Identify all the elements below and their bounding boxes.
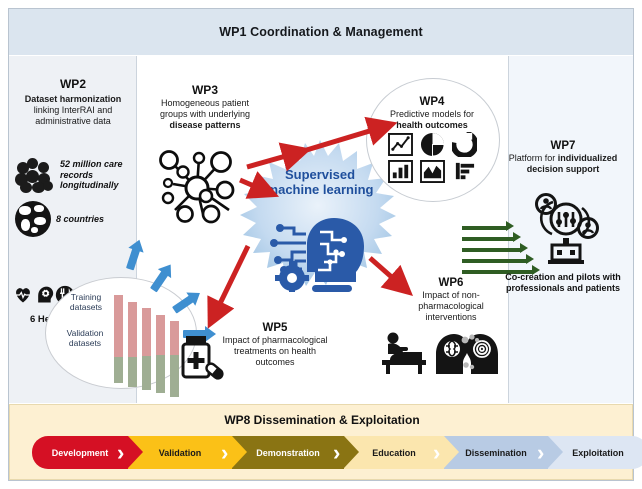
dataset-bar [128, 302, 137, 387]
chevron-tip [548, 436, 563, 468]
chevron-arrow-icon: › [221, 440, 228, 465]
chevron-arrow-icon: › [537, 440, 544, 465]
wp4-code: WP4 [372, 96, 492, 109]
wp5-line1: Impact of pharmacological [210, 335, 340, 346]
training-datasets-label: Training datasets [60, 292, 112, 312]
wp3-line2: groups with underlying [140, 109, 270, 120]
wp8-stage-label: Demonstration [252, 448, 324, 458]
brain-exchange-heads-icon [432, 330, 502, 374]
pill-bottle-icon [180, 334, 224, 380]
wp3-heading: WP3 Homogeneous patient groups with unde… [140, 84, 270, 131]
validation-datasets-label: Validation datasets [56, 328, 114, 348]
chevron-tip [444, 436, 459, 468]
chevron-arrow-icon: › [333, 440, 340, 465]
wp8-label: WP8 Dissemination & Exploitation [10, 413, 634, 427]
wp8-stage-development[interactable]: Development› [32, 436, 128, 469]
line-chart-icon [388, 133, 413, 156]
chevron-tip [344, 436, 359, 468]
wp6-line3: interventions [398, 312, 504, 323]
wp7-line1-bold: individualized [558, 153, 618, 163]
chevron-arrow-icon: › [433, 440, 440, 465]
dataset-bar [156, 315, 165, 393]
wp5-line3: outcomes [210, 357, 340, 368]
physiotherapy-massage-icon [378, 330, 430, 374]
wp8-process-chevrons: Development›Validation›Demonstration›Edu… [32, 436, 642, 469]
core-line1: Supervised [247, 168, 393, 183]
brain-head-icon [34, 285, 54, 305]
wp2-stat-records-label: 52 million care records longitudinally [60, 159, 135, 191]
dataset-bar [170, 321, 179, 397]
wp1-coordination-management-band: WP1 Coordination & Management [9, 9, 633, 55]
wp4-chart-icons [375, 132, 489, 186]
wp8-stage-label: Exploitation [568, 448, 628, 458]
wp8-stage-label: Development [48, 448, 113, 458]
wp8-stage-label: Education [368, 448, 420, 458]
dataset-bar [114, 295, 123, 383]
wp2-stat-countries: 8 countries [15, 201, 135, 237]
wp3-line3: disease patterns [140, 120, 270, 131]
core-line2: machine learning [247, 183, 393, 198]
wp5-code: WP5 [210, 322, 340, 335]
globe-icon [15, 201, 51, 237]
wp7-code: WP7 [505, 140, 621, 153]
area-chart-icon [420, 160, 445, 183]
wp2-stat-countries-label: 8 countries [56, 214, 104, 225]
wp8-stage-label: Validation [155, 448, 206, 458]
wp7-line1-prefix: Platform for [509, 153, 558, 163]
chevron-arrow-icon: › [117, 440, 124, 465]
horizontal-bar-chart-icon [452, 160, 477, 183]
wp7-line1: Platform for individualized [505, 153, 621, 164]
wp4-heading: WP4 Predictive models for health outcome… [372, 96, 492, 131]
supervised-ml-label: Supervised machine learning [247, 168, 393, 197]
wp2-code: WP2 [11, 78, 135, 92]
wp4-line1: Predictive models for [372, 109, 492, 120]
wp4-line2: health outcomes [372, 120, 492, 131]
wp5-heading: WP5 Impact of pharmacological treatments… [210, 322, 340, 368]
wp2-title: Dataset harmonization [11, 94, 135, 105]
chevron-tip [232, 436, 247, 468]
wp6-line2: pharmacological [398, 301, 504, 312]
chevron-tip [128, 436, 143, 468]
wp8-dissemination-band: WP8 Dissemination & Exploitation Develop… [9, 404, 633, 480]
donut-chart-icon [452, 132, 477, 157]
wp3-line1: Homogeneous patient [140, 98, 270, 109]
wp8-stage-demonstration[interactable]: Demonstration› [232, 436, 344, 469]
pie-chart-icon [420, 132, 445, 157]
wp7-heading: WP7 Platform for individualized decision… [505, 140, 621, 175]
ai-brain-circuit-head-icon [268, 212, 372, 292]
wp8-stage-dissemination[interactable]: Dissemination› [444, 436, 548, 469]
network-nodes-icon [155, 146, 247, 224]
wp1-label: WP1 Coordination & Management [219, 25, 423, 39]
wp7-footer-label: Co-creation and pilots with professional… [504, 272, 622, 295]
decision-support-platform-icon [530, 190, 602, 264]
dataset-bar [142, 308, 151, 390]
heart-ecg-icon [13, 285, 33, 305]
wp2-heading: WP2 Dataset harmonization linking InterR… [11, 78, 135, 127]
diagram-canvas: WP1 Coordination & Management WP2 Datase… [0, 0, 642, 489]
wp2-stat-records: 52 million care records longitudinally [15, 156, 135, 194]
wp8-stage-label: Dissemination [461, 448, 531, 458]
bar-chart-icon [388, 160, 413, 183]
wp2-subtitle: linking InterRAI and administrative data [11, 105, 135, 127]
wp7-line2: decision support [505, 164, 621, 175]
wp6-heading: WP6 Impact of non- pharmacological inter… [398, 277, 504, 323]
wp3-code: WP3 [140, 84, 270, 98]
wp8-stage-validation[interactable]: Validation› [128, 436, 232, 469]
wp6-icons [378, 330, 504, 374]
people-group-icon [15, 156, 55, 194]
wp6-line1: Impact of non- [398, 290, 504, 301]
wp6-code: WP6 [398, 277, 504, 290]
wp8-stage-education[interactable]: Education› [344, 436, 444, 469]
wp5-line2: treatments on health [210, 346, 340, 357]
